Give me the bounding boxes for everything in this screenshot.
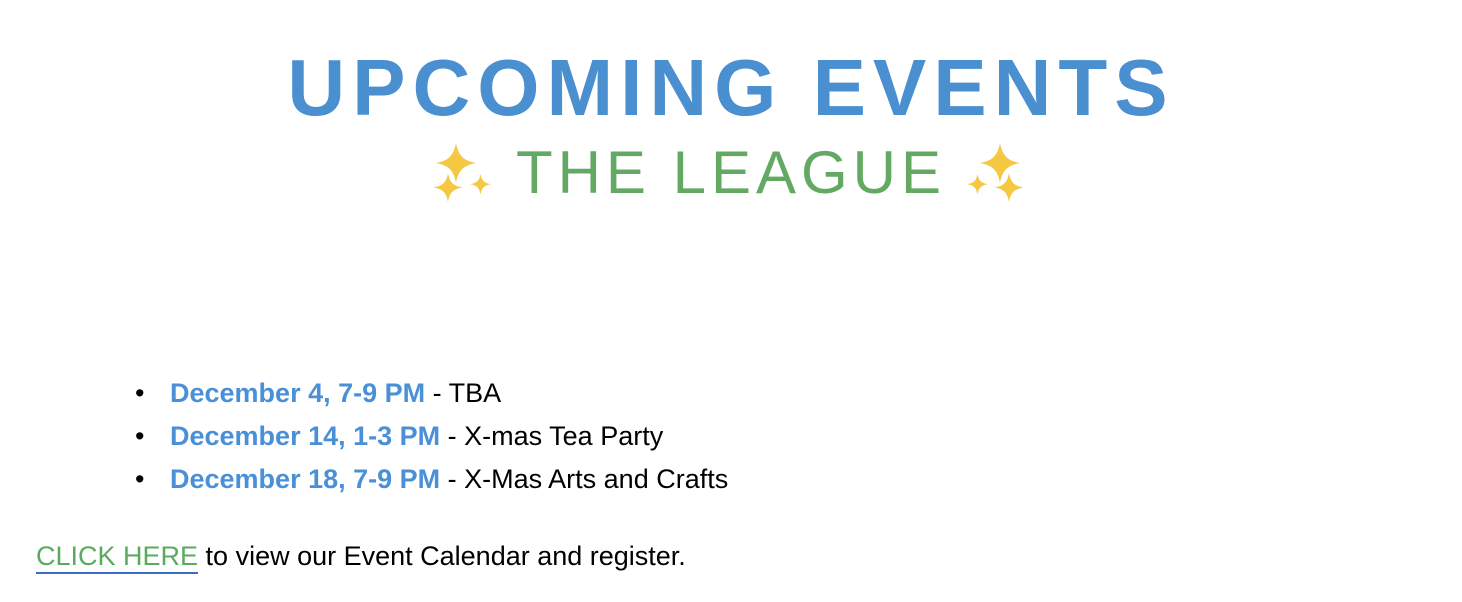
calendar-cta-line: CLICK HERE to view our Event Calendar an… <box>36 536 686 576</box>
event-separator: - <box>440 464 464 494</box>
event-date: December 14, 1-3 PM <box>170 421 440 451</box>
event-description: TBA <box>449 378 502 408</box>
banner-subtitle-row: THE LEAGUE <box>0 140 1462 206</box>
event-announcement-page: UPCOMING EVENTS THE LEAGUE <box>0 0 1462 602</box>
page-title: UPCOMING EVENTS <box>0 46 1462 130</box>
banner-heading: UPCOMING EVENTS THE LEAGUE <box>0 46 1462 206</box>
bullet-glyph: • <box>135 415 147 458</box>
list-item: • December 18, 7-9 PM - X-Mas Arts and C… <box>0 458 1462 501</box>
sparkles-icon-right <box>964 141 1030 205</box>
click-here-link[interactable]: CLICK HERE <box>36 541 198 574</box>
sparkles-icon-left <box>432 141 498 205</box>
event-description: X-mas Tea Party <box>464 421 663 451</box>
bullet-glyph: • <box>135 372 147 415</box>
event-list: • December 4, 7-9 PM - TBA • December 14… <box>0 372 1462 501</box>
event-separator: - <box>440 421 464 451</box>
bullet-glyph: • <box>135 458 147 501</box>
event-date: December 4, 7-9 PM <box>170 378 425 408</box>
events-section: • December 4, 7-9 PM - TBA • December 14… <box>0 372 1462 501</box>
event-date: December 18, 7-9 PM <box>170 464 440 494</box>
page-subtitle: THE LEAGUE <box>516 140 946 206</box>
cta-trailing-text: to view our Event Calendar and register. <box>198 541 686 571</box>
list-item: • December 14, 1-3 PM - X-mas Tea Party <box>0 415 1462 458</box>
event-description: X-Mas Arts and Crafts <box>464 464 728 494</box>
list-item: • December 4, 7-9 PM - TBA <box>0 372 1462 415</box>
event-separator: - <box>425 378 449 408</box>
